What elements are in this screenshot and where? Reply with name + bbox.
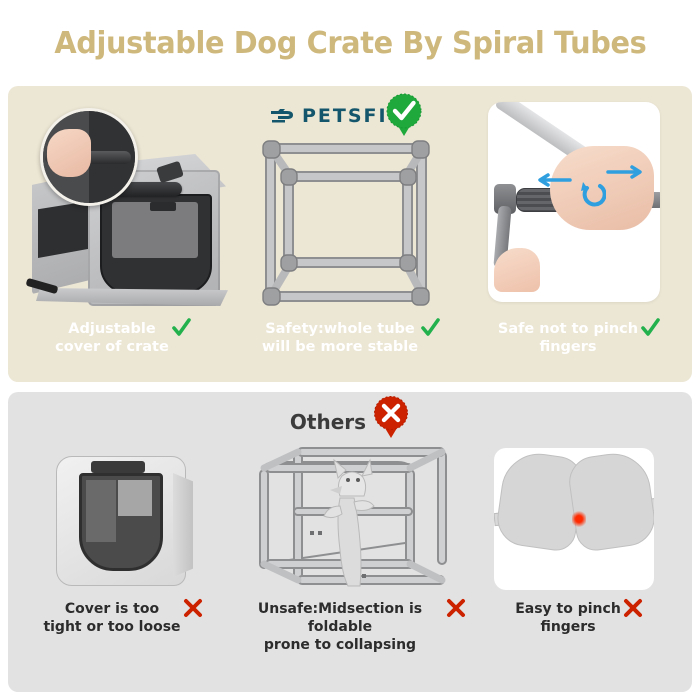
good-captions-row: Adjustable cover of crate Safety:whole t… (8, 320, 692, 372)
inset-hand (47, 129, 91, 177)
good-caption-3: Safe not to pinch fingers (464, 320, 692, 372)
petsfit-logo-mark (270, 108, 296, 125)
green-check-icon (420, 318, 440, 338)
red-x-badge (372, 395, 410, 441)
soft-crate-body (56, 456, 186, 586)
good-caption-1-line1: Adjustable (68, 321, 155, 337)
bad-captions-row: Cover is too tight or too loose Unsafe:M… (8, 600, 692, 652)
bad-caption-3-line1: Easy to pinch (515, 601, 621, 617)
right-hand (566, 449, 654, 553)
bad-caption-1-text: Cover is too tight or too loose (43, 600, 200, 652)
red-x-icon (623, 598, 643, 618)
soft-crate-inner-panel-left (86, 480, 116, 542)
bad-caption-1-line1: Cover is too (65, 601, 159, 617)
good-caption-3-line1: Safe not to pinch (498, 321, 638, 337)
hands-adjusting-tube-photo (488, 102, 660, 302)
hand-holding-tube-inset (40, 108, 138, 206)
bad-caption-3: Easy to pinch fingers (464, 600, 692, 652)
green-check-icon (171, 318, 191, 338)
bad-caption-2-text: Unsafe:Midsection is foldable prone to c… (236, 600, 464, 652)
soft-crate-side-panel (173, 473, 193, 577)
bad-images-row (8, 444, 692, 600)
rotate-arrow-icon (580, 178, 606, 214)
good-caption-2-line1: Safety:whole tube (265, 321, 415, 337)
bad-cell-loose-cover (8, 444, 236, 600)
soft-crate-window (79, 473, 163, 571)
page-title: Adjustable Dog Crate By Spiral Tubes (54, 26, 646, 61)
good-cell-adjustable-cover (8, 90, 236, 320)
spiral-tube-frame-diagram (248, 136, 448, 316)
green-check-badge (384, 92, 424, 140)
red-x-icon (183, 598, 203, 618)
collapsing-frame-svg (248, 446, 452, 596)
good-cell-whole-tube: PETSFIT (236, 90, 464, 320)
loose-soft-crate-photo (50, 448, 194, 592)
page-title-bar: Adjustable Dog Crate By Spiral Tubes (0, 0, 700, 86)
right-arrow-icon (606, 164, 648, 180)
bad-caption-1: Cover is too tight or too loose (8, 600, 236, 652)
hands-pinched-by-tube-diagram (494, 448, 654, 590)
frame-wireframe-svg (248, 136, 448, 316)
red-x-icon (446, 598, 466, 618)
good-caption-1-text: Adjustable cover of crate (55, 320, 189, 372)
bad-caption-2-line2: prone to collapsing (264, 637, 416, 653)
good-caption-2: Safety:whole tube will be more stable (236, 320, 464, 372)
good-caption-2-text: Safety:whole tube will be more stable (262, 320, 438, 372)
infographic-page: Adjustable Dog Crate By Spiral Tubes (0, 0, 700, 700)
others-heading: Others (290, 410, 366, 434)
good-caption-1: Adjustable cover of crate (8, 320, 236, 372)
bad-caption-2: Unsafe:Midsection is foldable prone to c… (236, 600, 464, 652)
crate-brand-label (150, 202, 176, 211)
collapsing-frame-with-dog-diagram (248, 446, 452, 596)
left-arrow-icon (532, 172, 572, 188)
pinch-point-indicator (572, 510, 586, 528)
good-caption-3-text: Safe not to pinch fingers (498, 320, 658, 372)
good-caption-1-line2: cover of crate (55, 339, 169, 355)
good-cell-safe-fingers (464, 90, 692, 320)
crate-base (36, 288, 228, 306)
bad-caption-2-line1: Unsafe:Midsection is foldable (258, 601, 422, 635)
green-check-icon (640, 318, 660, 338)
bad-cell-foldable-midsection (236, 444, 464, 600)
good-caption-2-line2: will be more stable (262, 339, 418, 355)
soft-crate-handle (91, 461, 145, 473)
soft-crate-inner-panel-right (118, 480, 152, 516)
supporting-hand (494, 248, 540, 292)
others-heading-row: Others (0, 398, 700, 446)
bad-cell-pinch-fingers (464, 444, 692, 600)
bad-caption-3-line2: fingers (540, 619, 595, 635)
adjustable-crate-photo (22, 106, 234, 314)
bad-caption-3-text: Easy to pinch fingers (515, 600, 641, 652)
good-images-row: PETSFIT (8, 90, 692, 320)
bad-caption-1-line2: tight or too loose (43, 619, 180, 635)
good-caption-3-line2: fingers (539, 339, 596, 355)
